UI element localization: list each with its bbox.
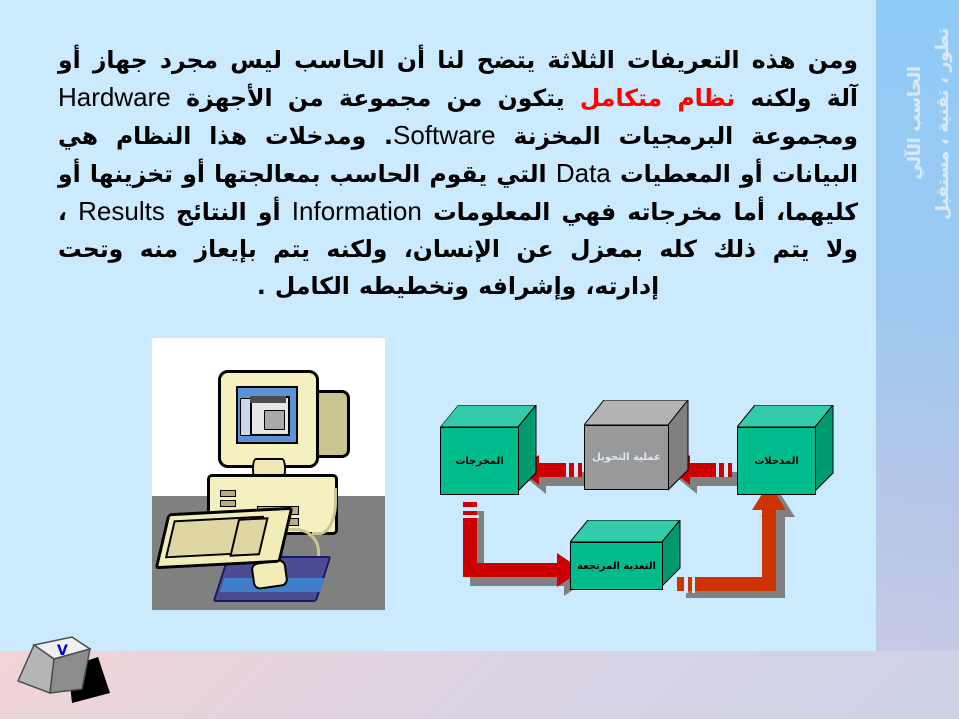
arrow-notch: [574, 457, 578, 477]
system-flow-diagram: المخرجات عملية التحويل: [432, 395, 832, 615]
paragraph-segment: Results: [78, 196, 165, 226]
slide-canvas: تطور ، تقنية ، مستقبل الحاسب الآلي ومن ه…: [0, 0, 959, 719]
outputs-top-face: [440, 405, 520, 427]
paragraph-segment: يتكون من مجموعة من الأجهزة: [171, 84, 580, 112]
sidebar-vertical-title-2: الحاسب الآلي: [905, 66, 925, 180]
diagram-box-transform: عملية التحويل: [584, 400, 688, 515]
paragraph-segment: أو النتائج: [165, 198, 292, 226]
feedback-side-face: [662, 520, 681, 602]
paragraph-segment: Information: [292, 196, 422, 226]
inputs-side-face: [815, 405, 834, 513]
sidebar-strip: تطور ، تقنية ، مستقبل الحاسب الآلي: [876, 0, 959, 651]
body-paragraph: ومن هذه التعريفات الثلاثة يتضح لنا أن ال…: [58, 42, 858, 305]
diagram-box-inputs: المدخلات: [737, 405, 833, 513]
tower-button-2: [220, 500, 236, 507]
transform-label: عملية التحويل: [584, 425, 669, 490]
outputs-side-face: [518, 405, 537, 513]
tower-button-1: [220, 490, 236, 497]
screen-window-inner: [264, 410, 285, 430]
screen-window-titlebar: [250, 396, 286, 403]
paragraph-segment: نظام متكامل: [580, 84, 735, 112]
desktop-computer-clipart: [152, 338, 385, 610]
arrow-notch: [461, 515, 479, 518]
paragraph-segment: ومجموعة البرمجيات المخزنة: [496, 122, 858, 150]
arrow-notch: [716, 457, 719, 477]
paragraph-segment: Data: [556, 158, 611, 188]
paragraph-segment: Software: [393, 120, 496, 150]
arrow-notch: [692, 575, 695, 593]
sidebar-vertical-title-1: تطور ، تقنية ، مستقبل: [933, 28, 953, 220]
arrow-notch: [724, 457, 728, 477]
transform-side-face: [668, 400, 689, 515]
inputs-label: المدخلات: [737, 427, 816, 495]
keyboard-keycap-decoration: V: [18, 635, 80, 695]
paragraph-segment: Hardware: [58, 82, 171, 112]
arrow-notch: [566, 457, 569, 477]
diagram-box-outputs: المخرجات: [440, 405, 536, 513]
sidebar-text-group: تطور ، تقنية ، مستقبل الحاسب الآلي: [876, 18, 959, 348]
arrow-notch: [684, 575, 688, 593]
feedback-label: التغذية المرتجعة: [570, 542, 663, 590]
keycap-glyph: V: [57, 643, 68, 659]
diagram-box-feedback: التغذية المرتجعة: [570, 520, 680, 602]
outputs-label: المخرجات: [440, 427, 519, 495]
